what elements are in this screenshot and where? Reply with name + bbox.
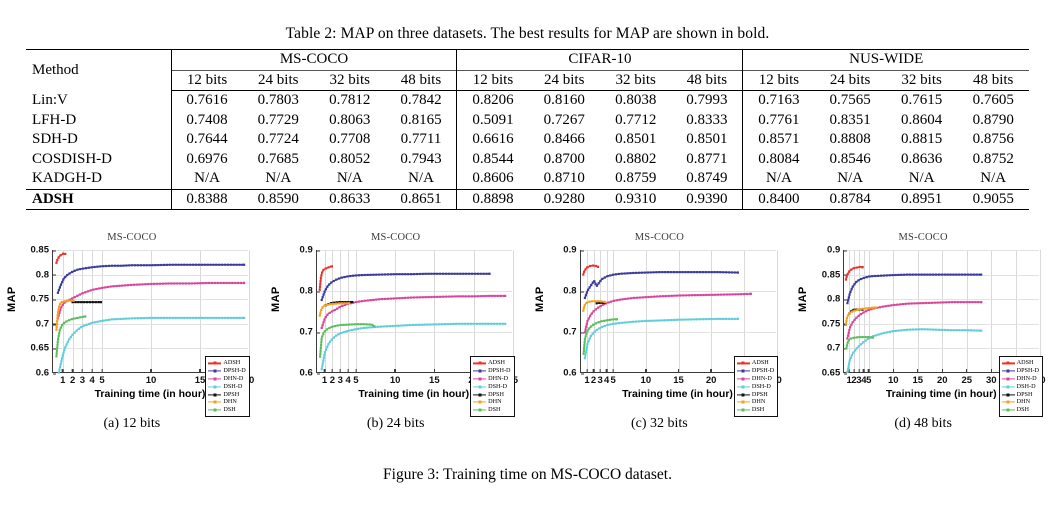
series-marker (56, 317, 58, 319)
series-marker (597, 282, 599, 284)
series-marker (860, 308, 862, 310)
series-marker (611, 274, 613, 276)
series-marker (453, 273, 455, 275)
series-marker (67, 341, 69, 343)
table-row: KADGH-DN/AN/AN/AN/A0.86060.87100.87590.8… (26, 169, 1029, 189)
series-marker (380, 325, 382, 327)
series-marker (847, 342, 849, 344)
series-marker (68, 338, 70, 340)
series-marker (325, 288, 327, 290)
series-marker (583, 338, 585, 340)
series-marker (75, 330, 77, 332)
series-marker (358, 274, 360, 276)
series-marker (719, 294, 721, 296)
series-marker (865, 340, 867, 342)
series-marker (162, 283, 164, 285)
series-marker (389, 273, 391, 275)
series-marker (321, 363, 323, 365)
series-marker (464, 323, 466, 325)
cell-value: 0.7812 (314, 91, 385, 111)
series-marker (711, 294, 713, 296)
series-marker (858, 315, 860, 317)
series-marker (593, 280, 595, 282)
series-marker (372, 274, 374, 276)
series-marker (198, 317, 200, 319)
series-marker (875, 334, 877, 336)
series-marker (170, 282, 172, 284)
series-marker (208, 282, 210, 284)
cell-value: 0.8636 (886, 150, 957, 170)
series-marker (852, 286, 854, 288)
gridline-vertical (249, 250, 250, 372)
cell-value: N/A (743, 169, 814, 189)
series-marker (676, 294, 678, 296)
series-marker (882, 306, 884, 308)
series-marker (976, 329, 978, 331)
series-marker (679, 294, 681, 296)
legend-label: DHN-D (488, 375, 508, 383)
plot-area: 123451015200.60.650.70.750.80.85 (52, 250, 248, 373)
series-marker (365, 327, 367, 329)
series-marker (442, 296, 444, 298)
series-marker (406, 324, 408, 326)
series-marker (583, 347, 585, 349)
chart-title: MS-COCO (528, 232, 792, 243)
series-marker (169, 264, 171, 266)
x-tick-label: 4 (345, 372, 350, 386)
cell-value: 0.9055 (957, 189, 1029, 210)
legend-label: DSH (223, 406, 235, 414)
gridline-vertical (1040, 250, 1041, 372)
cell-value: 0.8333 (671, 111, 742, 131)
series-marker (502, 323, 504, 325)
series-marker (874, 275, 876, 277)
series-marker (690, 294, 692, 296)
series-marker (63, 349, 65, 351)
legend-label: DHN (488, 398, 501, 406)
cell-value: 0.8710 (528, 169, 599, 189)
series-marker (626, 272, 628, 274)
series-marker (172, 317, 174, 319)
series-marker (56, 349, 58, 351)
series-marker (337, 333, 339, 335)
series-marker (853, 267, 855, 269)
series-marker (366, 299, 368, 301)
series-marker (964, 274, 966, 276)
series-marker (638, 296, 640, 298)
series-marker (582, 307, 584, 309)
y-axis-label: MAP (270, 286, 282, 312)
series-marker (589, 335, 591, 337)
series-marker (714, 294, 716, 296)
series-marker (872, 336, 874, 338)
series-marker (606, 324, 608, 326)
legend-item-dhn: DHN (1002, 398, 1039, 406)
cell-value: 0.7616 (171, 91, 242, 111)
series-marker (335, 335, 337, 337)
y-tick-label: 0.85 (31, 245, 54, 256)
cell-value: 0.7708 (314, 130, 385, 150)
series-marker (323, 319, 325, 321)
series-marker (956, 329, 958, 331)
legend-label: DHN (1017, 398, 1030, 406)
series-marker (58, 335, 60, 337)
header-bits: 24 bits (243, 71, 314, 91)
series-marker (424, 296, 426, 298)
series-marker (115, 285, 117, 287)
y-tick-label: 0.7 (563, 327, 580, 338)
series-marker (321, 306, 323, 308)
cell-value: 0.8784 (814, 189, 885, 210)
series-marker (584, 335, 586, 337)
series-marker (67, 300, 69, 302)
series-marker (78, 328, 80, 330)
series-marker (238, 264, 240, 266)
series-marker (172, 264, 174, 266)
series-marker (111, 265, 113, 267)
series-marker (186, 264, 188, 266)
series-marker (684, 271, 686, 273)
series-marker (122, 265, 124, 267)
series-marker (62, 352, 64, 354)
series-marker (964, 329, 966, 331)
panel-subcaption: (a) 12 bits (0, 416, 264, 432)
series-marker (230, 264, 232, 266)
series-marker (398, 273, 400, 275)
cell-value: N/A (386, 169, 457, 189)
series-marker (108, 319, 110, 321)
series-marker (60, 363, 62, 365)
series-marker (943, 301, 945, 303)
series-marker (334, 325, 336, 327)
series-marker (321, 365, 323, 367)
series-marker (858, 345, 860, 347)
series-marker (319, 280, 321, 282)
series-marker (888, 305, 890, 307)
y-axis-label: MAP (6, 286, 18, 312)
series-marker (458, 323, 460, 325)
series-marker (727, 318, 729, 320)
series-marker (859, 336, 861, 338)
series-marker (319, 283, 321, 285)
plot-area: 12345101520253035400.650.70.750.80.850.9 (843, 250, 1039, 373)
series-marker (921, 328, 923, 330)
series-marker (189, 317, 191, 319)
series-marker (606, 275, 608, 277)
x-tick-label: 5 (611, 372, 616, 386)
series-marker (918, 328, 920, 330)
series-marker (722, 318, 724, 320)
header-bits: 32 bits (314, 71, 385, 91)
x-tick-label: 4 (604, 372, 609, 386)
legend-swatch-icon (1002, 391, 1015, 398)
legend-swatch-icon (208, 375, 221, 382)
series-marker (947, 274, 949, 276)
series-marker (77, 301, 79, 303)
series-marker (591, 264, 593, 266)
series-marker (850, 268, 852, 270)
series-marker (357, 323, 359, 325)
series-marker (90, 289, 92, 291)
series-marker (927, 328, 929, 330)
series-marker (611, 318, 613, 320)
series-marker (68, 319, 70, 321)
series-marker (60, 306, 62, 308)
figure-panel-c: MS-COCOMAP1234510152025300.60.70.80.9ADS… (528, 228, 792, 443)
series-marker (110, 285, 112, 287)
series-marker (363, 274, 365, 276)
series-marker (728, 293, 730, 295)
series-marker (156, 283, 158, 285)
series-marker (500, 295, 502, 297)
series-marker (201, 317, 203, 319)
legend-item-dhn: DHN (737, 398, 774, 406)
series-marker (65, 344, 67, 346)
series-marker (641, 296, 643, 298)
series-marker (319, 312, 321, 314)
series-marker (323, 291, 325, 293)
series-marker (596, 266, 598, 268)
series-marker (415, 324, 417, 326)
series-marker (395, 273, 397, 275)
series-marker (94, 321, 96, 323)
series-marker (322, 333, 324, 335)
series-marker (321, 296, 323, 298)
legend-swatch-icon (737, 406, 750, 413)
series-marker (209, 264, 211, 266)
legend-swatch-icon (1002, 383, 1015, 390)
legend-swatch-icon (473, 360, 486, 367)
legend-item-dpsh-d: DPSH-D (1002, 367, 1039, 375)
series-marker (320, 368, 322, 370)
series-marker (852, 321, 854, 323)
series-marker (183, 264, 185, 266)
series-marker (612, 323, 614, 325)
series-marker (154, 317, 156, 319)
series-marker (496, 323, 498, 325)
series-marker (898, 330, 900, 332)
series-marker (585, 302, 587, 304)
series-marker (653, 296, 655, 298)
series-marker (74, 270, 76, 272)
series-marker (587, 317, 589, 319)
series-marker (95, 288, 97, 290)
series-marker (865, 310, 867, 312)
series-marker (661, 271, 663, 273)
series-marker (588, 338, 590, 340)
series-marker (696, 294, 698, 296)
series-marker (643, 320, 645, 322)
series-marker (79, 316, 81, 318)
series-marker (91, 322, 93, 324)
series-marker (85, 267, 87, 269)
series-marker (899, 303, 901, 305)
series-marker (195, 317, 197, 319)
series-marker (320, 299, 322, 301)
x-tick-label: 4 (90, 372, 95, 386)
series-marker (956, 274, 958, 276)
series-marker (355, 301, 357, 303)
legend-item-dpsh-d: DPSH-D (737, 367, 774, 375)
series-marker (635, 297, 637, 299)
series-marker (340, 332, 342, 334)
y-tick-label: 0.6 (36, 368, 53, 379)
series-marker (320, 347, 322, 349)
series-marker (652, 271, 654, 273)
series-marker (70, 336, 72, 338)
table-container: Method MS-COCO CIFAR-10 NUS-WIDE 12 bits… (0, 49, 1055, 210)
series-marker (847, 368, 849, 370)
series-marker (134, 264, 136, 266)
series-marker (218, 264, 220, 266)
series-marker (886, 331, 888, 333)
series-marker (335, 303, 337, 305)
x-tick-label: 10 (146, 372, 157, 386)
series-marker (98, 301, 100, 303)
series-marker (934, 302, 936, 304)
cell-value: 0.8759 (600, 169, 671, 189)
series-marker (366, 274, 368, 276)
series-marker (404, 297, 406, 299)
series-marker (84, 315, 86, 317)
legend-label: ADSH (223, 359, 240, 367)
series-marker (233, 264, 235, 266)
series-marker (846, 320, 848, 322)
series-marker (961, 329, 963, 331)
series-marker (175, 317, 177, 319)
series-marker (360, 327, 362, 329)
series-marker (488, 295, 490, 297)
series-marker (849, 329, 851, 331)
series-marker (594, 308, 596, 310)
series-marker (584, 328, 586, 330)
cell-value: 0.7615 (886, 91, 957, 111)
series-marker (724, 318, 726, 320)
x-tick-label: 1 (60, 372, 65, 386)
series-marker (61, 324, 63, 326)
series-marker (854, 283, 856, 285)
series-marker (850, 357, 852, 359)
series-marker (354, 323, 356, 325)
series-marker (743, 293, 745, 295)
series-marker (423, 324, 425, 326)
legend-swatch-icon (737, 391, 750, 398)
series-marker (462, 273, 464, 275)
series-marker (320, 274, 322, 276)
series-marker (323, 330, 325, 332)
series-marker (860, 278, 862, 280)
series-marker (450, 273, 452, 275)
series-marker (701, 271, 703, 273)
cell-value: 0.8790 (957, 111, 1029, 131)
series-marker (848, 365, 850, 367)
series-marker (336, 308, 338, 310)
series-marker (847, 371, 849, 373)
series-marker (329, 303, 331, 305)
series-marker (898, 274, 900, 276)
series-marker (950, 274, 952, 276)
series-marker (849, 312, 851, 314)
cell-value: 0.7761 (743, 111, 814, 131)
series-marker (71, 297, 73, 299)
legend-label: DHN-D (223, 375, 243, 383)
series-marker (332, 280, 334, 282)
header-bits: 24 bits (528, 71, 599, 91)
series-marker (56, 347, 58, 349)
series-marker (889, 274, 891, 276)
series-marker (589, 265, 591, 267)
table-row: COSDISH-D0.69760.76850.80520.79430.85440… (26, 150, 1029, 170)
series-marker (617, 273, 619, 275)
series-marker (143, 264, 145, 266)
series-marker (338, 277, 340, 279)
series-marker (223, 282, 225, 284)
series-marker (862, 308, 864, 310)
cell-value: 0.8084 (743, 150, 814, 170)
series-marker (236, 317, 238, 319)
series-marker (351, 329, 353, 331)
series-marker (586, 266, 588, 268)
series-marker (969, 301, 971, 303)
gridline-vertical (513, 250, 514, 372)
cell-method: KADGH-D (26, 169, 171, 189)
series-marker (593, 300, 595, 302)
series-marker (228, 282, 230, 284)
series-marker (935, 329, 937, 331)
series-marker (661, 295, 663, 297)
series-marker (958, 274, 960, 276)
series-marker (681, 271, 683, 273)
cell-method: LFH-D (26, 111, 171, 131)
series-marker (95, 301, 97, 303)
series-marker (236, 264, 238, 266)
y-tick-label: 0.75 (31, 294, 54, 305)
series-marker (915, 274, 917, 276)
series-marker (497, 295, 499, 297)
series-marker (407, 273, 409, 275)
series-marker (322, 321, 324, 323)
cell-value: N/A (886, 169, 957, 189)
cell-value: 0.7712 (600, 111, 671, 131)
series-marker (462, 295, 464, 297)
series-marker (856, 267, 858, 269)
cell-value: 0.6616 (457, 130, 528, 150)
series-marker (707, 271, 709, 273)
series-marker (365, 323, 367, 325)
series-marker (86, 301, 88, 303)
series-marker (209, 317, 211, 319)
series-marker (70, 300, 72, 302)
series-marker (62, 354, 64, 356)
series-marker (389, 325, 391, 327)
chart-series-layer (581, 250, 777, 373)
legend-label: DPSH (488, 391, 504, 399)
series-marker (932, 274, 934, 276)
series-marker (664, 319, 666, 321)
cell-value: 0.7711 (386, 130, 457, 150)
series-marker (137, 264, 139, 266)
series-marker (649, 320, 651, 322)
legend-item-adsh: ADSH (208, 359, 245, 367)
series-marker (127, 284, 129, 286)
x-tick-label: 3 (338, 372, 343, 386)
header-method: Method (26, 50, 171, 91)
series-marker (320, 344, 322, 346)
series-marker (972, 301, 974, 303)
cell-value: 0.8206 (457, 91, 528, 111)
cell-method: ADSH (26, 189, 171, 210)
series-marker (707, 318, 709, 320)
